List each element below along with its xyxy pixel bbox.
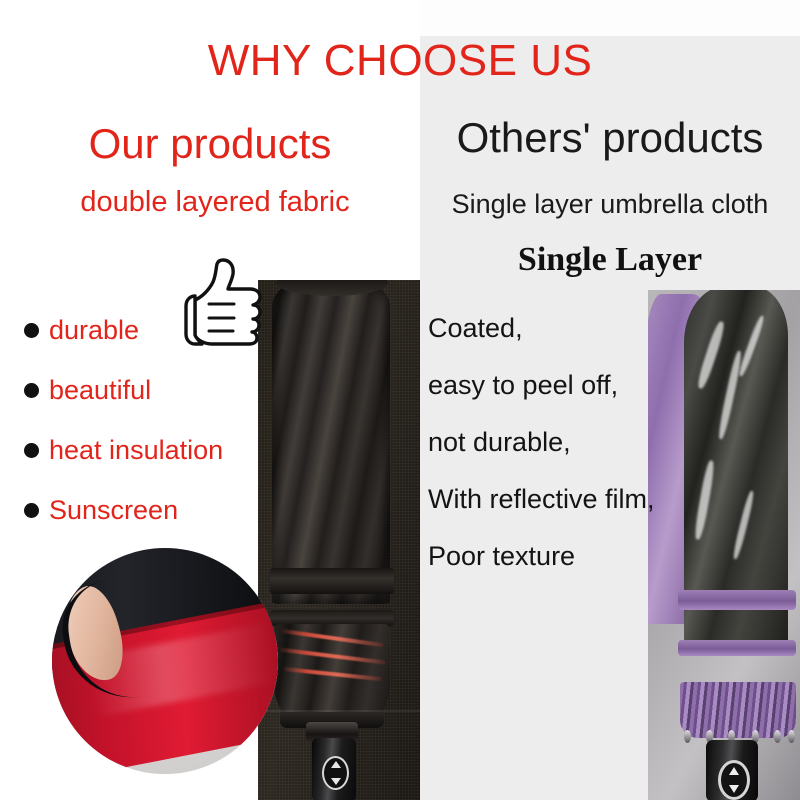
others-products-subheading: Single layer umbrella cloth <box>420 188 800 220</box>
benefit-label: durable <box>49 315 139 345</box>
rib-tip <box>788 730 795 743</box>
bullet-dot-icon <box>24 443 39 458</box>
page-title: WHY CHOOSE US <box>0 36 800 86</box>
bullet-dot-icon <box>24 323 39 338</box>
comparison-infographic: WHY CHOOSE US Our products double layere… <box>0 0 800 800</box>
others-products-heading: Others' products <box>420 113 800 163</box>
others-products-drawback-list: Coated, easy to peel off, not durable, W… <box>428 300 728 585</box>
bullet-dot-icon <box>24 383 39 398</box>
auto-open-close-button-icon <box>718 760 750 800</box>
rib-tip <box>684 730 691 743</box>
list-item: Sunscreen <box>24 480 284 540</box>
benefit-label: heat insulation <box>49 435 223 465</box>
umbrella-band-upper <box>270 568 394 594</box>
list-item: easy to peel off, <box>428 357 728 414</box>
umbrella-band-upper <box>678 590 796 610</box>
list-item: Poor texture <box>428 528 728 585</box>
list-item: With reflective film, <box>428 471 728 528</box>
benefit-label: Sunscreen <box>49 495 178 525</box>
umbrella-band-lower <box>678 640 796 656</box>
list-item: heat insulation <box>24 420 284 480</box>
our-products-subheading: double layered fabric <box>0 185 430 219</box>
bullet-dot-icon <box>24 503 39 518</box>
double-layer-fabric-closeup <box>52 548 278 774</box>
list-item: beautiful <box>24 360 284 420</box>
thumbs-up-icon <box>178 252 270 348</box>
benefit-label: beautiful <box>49 375 151 405</box>
single-layer-emphasis: Single Layer <box>420 240 800 280</box>
our-products-heading: Our products <box>0 120 420 168</box>
umbrella-canopy <box>272 280 390 604</box>
right-panel-top-strip <box>420 0 800 36</box>
rib-tip <box>774 730 781 743</box>
list-item: not durable, <box>428 414 728 471</box>
auto-open-close-button-icon <box>322 756 349 790</box>
list-item: Coated, <box>428 300 728 357</box>
